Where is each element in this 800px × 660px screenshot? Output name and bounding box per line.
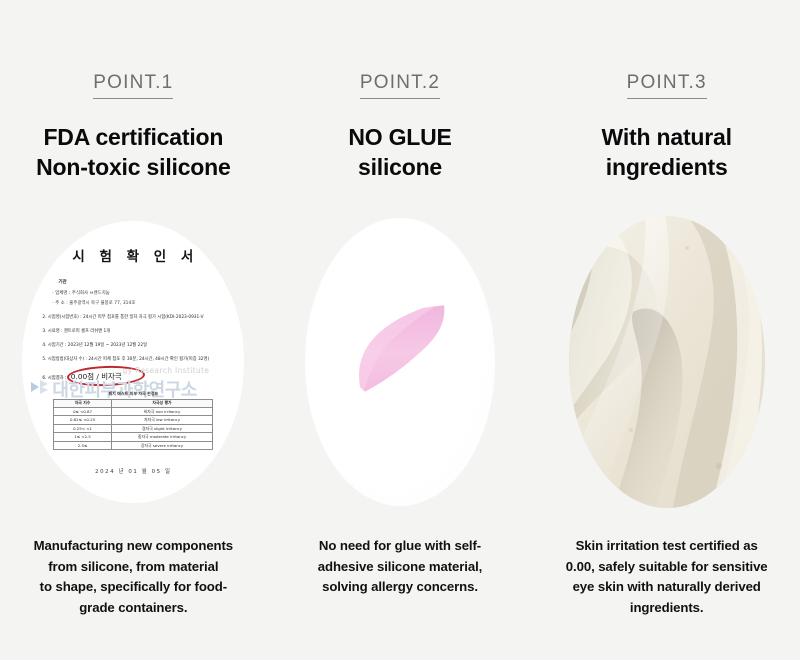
table-cell: 비자극 non irritancy (111, 407, 213, 415)
table-row: 0.82≤ <0.25 저자극 low irritancy (54, 416, 213, 424)
table-row: 0≤ <0.87 비자극 non irritancy (54, 407, 213, 415)
certificate-table-caption: 패치 테스트 피부 자극 판정표 (36, 391, 230, 397)
table-cell: 0.25< <1 (54, 424, 111, 432)
table-cell: 0.82≤ <0.25 (54, 416, 111, 424)
certificate-result-prefix: 6. 시험결과 : (42, 376, 66, 381)
red-circle-annotation (67, 364, 146, 387)
table-cell: 강자극 severe irritancy (111, 441, 213, 449)
silicone-strip-shape (334, 290, 468, 398)
table-header-cell: 자극 지수 (54, 399, 111, 407)
table-header-row: 자극 지수 자극성 평가 (54, 399, 213, 407)
certificate-document: 시 험 확 인 서 기관 · 업체명 : 주식회사 ㅂ랜드지눔 · 주 소 : … (22, 221, 244, 503)
certificate-subheading: 기관 (58, 279, 230, 285)
point-column-1: POINT.1 FDA certification Non-toxic sili… (0, 72, 267, 618)
cream-swirl-shape (569, 216, 765, 508)
certificate-client-line: · 업체명 : 주식회사 ㅂ랜드지눔 (52, 290, 230, 296)
points-columns: POINT.1 FDA certification Non-toxic sili… (0, 0, 800, 618)
table-cell: 2.5≤ (54, 441, 111, 449)
point-column-3: POINT.3 With natural ingredients (533, 72, 800, 618)
certificate-result-line: 6. 시험결과 : 0.00점 / 비자극 (42, 371, 230, 382)
point-headline-3: With natural ingredients (602, 122, 732, 183)
media-slot-2 (267, 217, 534, 507)
point-column-2: POINT.2 NO GLUE silicone (267, 72, 534, 618)
table-cell: 0≤ <0.87 (54, 407, 111, 415)
certificate-date: 2024 년 01 월 05 일 (36, 467, 230, 475)
table-cell: 1≤ <2.5 (54, 433, 111, 441)
media-slot-3 (533, 217, 800, 507)
point-caption-3: Skin irritation test certified as 0.00, … (556, 536, 778, 618)
table-row: 2.5≤ 강자극 severe irritancy (54, 441, 213, 449)
irritation-index-table: 자극 지수 자극성 평가 0≤ <0.87 비자극 non irritancy (53, 399, 213, 451)
media-slot-1: 시 험 확 인 서 기관 · 업체명 : 주식회사 ㅂ랜드지눔 · 주 소 : … (0, 217, 267, 507)
table-row: 1≤ <2.5 중자극 moderate irritancy (54, 433, 213, 441)
point-label-1: POINT.1 (93, 72, 173, 99)
table-cell: 경자극 slight irritancy (111, 424, 213, 432)
certificate-item-5: 5. 시험방법(대상자 수) : 24시간 피체 첩포 후 30분, 24시간,… (42, 356, 230, 362)
pink-silicone-strip-image (305, 218, 495, 506)
test-certificate-image: 시 험 확 인 서 기관 · 업체명 : 주식회사 ㅂ랜드지눔 · 주 소 : … (22, 221, 244, 503)
point-headline-2: NO GLUE silicone (348, 122, 451, 183)
table-row: 0.25< <1 경자극 slight irritancy (54, 424, 213, 432)
cream-texture-image (569, 216, 765, 508)
point-label-3: POINT.3 (627, 72, 707, 99)
point-caption-1: Manufacturing new components from silico… (24, 536, 243, 618)
point-headline-1: FDA certification Non-toxic silicone (36, 122, 230, 183)
certificate-address-line: · 주 소 : 울주광역시 북구 율봉로 77, 314호 (52, 300, 230, 306)
table-cell: 저자극 low irritancy (111, 416, 213, 424)
promo-page: POINT.1 FDA certification Non-toxic sili… (0, 0, 800, 660)
certificate-item-4: 4. 시험기간 : 2023년 12월 19일 ~ 2023년 12월 22일 (42, 342, 230, 348)
certificate-item-2: 2. 시험명(시험번호) : 24시간 피부 첩포를 통한 일차 자극 평가 시… (42, 314, 230, 320)
certificate-title: 시 험 확 인 서 (40, 245, 230, 265)
table-header-cell: 자극성 평가 (111, 399, 213, 407)
point-caption-2: No need for glue with self- adhesive sil… (308, 536, 492, 598)
table-cell: 중자극 moderate irritancy (111, 433, 213, 441)
certificate-item-3: 3. 시료명 : 젠트로피 셀프 라쉬밴 1개 (42, 328, 230, 334)
point-label-2: POINT.2 (360, 72, 440, 99)
